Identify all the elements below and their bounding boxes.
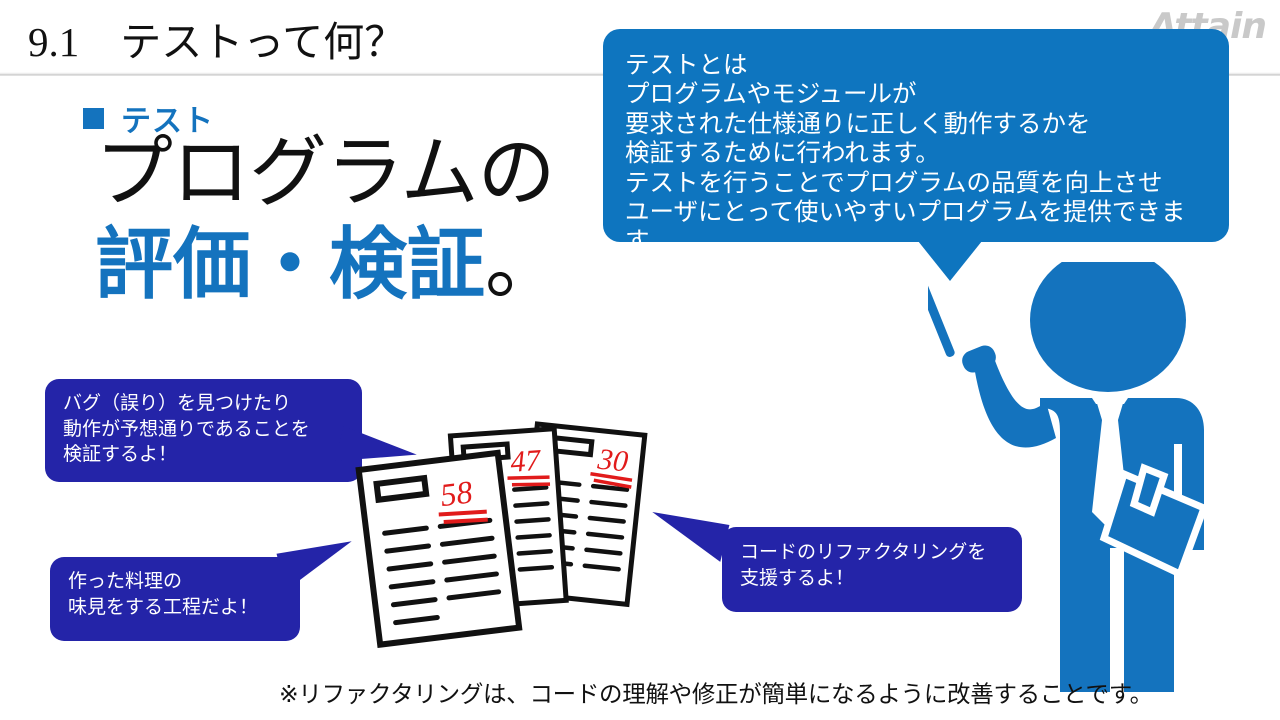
callout-bug: バグ（誤り）を見つけたり 動作が予想通りであることを 検証するよ！: [45, 379, 362, 482]
callout-definition: テストとは プログラムやモジュールが 要求された仕様通りに正しく動作するかを 検…: [603, 29, 1229, 242]
callout-refactor-text: コードのリファクタリングを 支援するよ！: [740, 540, 1022, 591]
footnote-text: ※リファクタリングは、コードの理解や修正が簡単になるように改善することです。: [279, 675, 1153, 709]
callout-cooking: 作った料理の 味見をする工程だよ！: [50, 557, 300, 641]
presenter-figure: [928, 262, 1228, 700]
headline-line-2-blue: 評価・検証: [95, 220, 485, 308]
headline-line-2-period: 。: [485, 220, 563, 308]
page-title: 9.1 テストって何？: [28, 8, 405, 68]
callout-bug-text: バグ（誤り）を見つけたり 動作が予想通りであることを 検証するよ！: [63, 391, 362, 468]
slide-root: 9.1 テストって何？ Attain テスト プログラムの 評価・検証。 テスト…: [0, 0, 1280, 720]
headline-line-1: プログラムの: [95, 133, 555, 213]
paper-score-1: 58: [438, 473, 474, 513]
headline-line-2: 評価・検証。: [95, 225, 563, 305]
square-bullet-icon: [83, 108, 104, 129]
paper-score-3: 30: [595, 442, 629, 478]
callout-definition-text: テストとは プログラムやモジュールが 要求された仕様通りに正しく動作するかを 検…: [625, 51, 1209, 257]
person-head: [1030, 262, 1186, 392]
pointer-stick-icon: [928, 269, 956, 358]
paper-score-2: 47: [509, 444, 543, 479]
callout-cooking-text: 作った料理の 味見をする工程だよ！: [68, 569, 300, 620]
paper-sheet-1: 58: [359, 453, 519, 645]
